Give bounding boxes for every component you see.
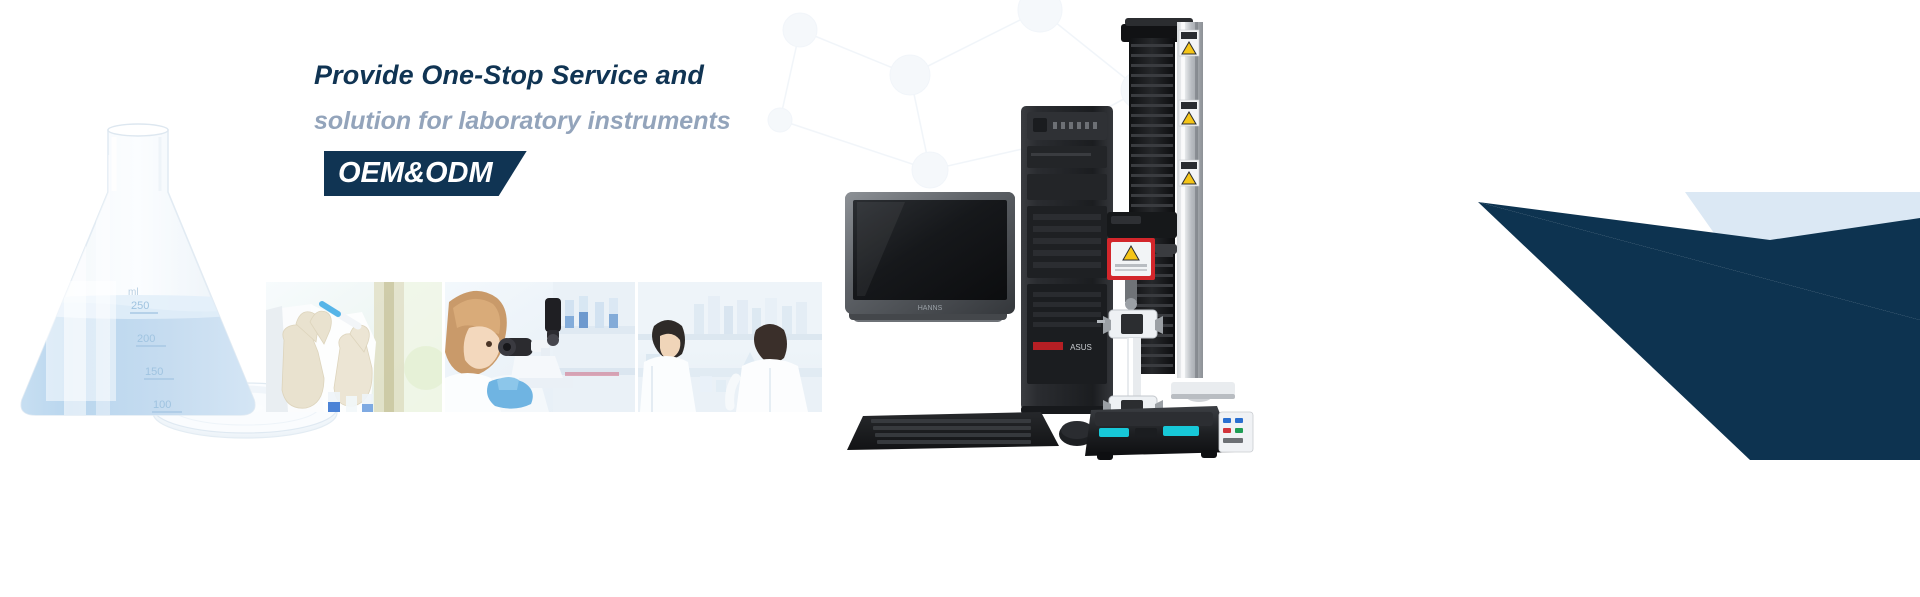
monitor: HANNS xyxy=(845,192,1015,322)
svg-text:150: 150 xyxy=(145,366,163,378)
dark-navy-lower-wedge xyxy=(1478,202,1920,460)
svg-text:100: 100 xyxy=(153,399,171,411)
photo-researchers-lab xyxy=(638,282,822,412)
oem-odm-badge: OEM&ODM xyxy=(324,151,527,196)
svg-text:250: 250 xyxy=(131,300,149,312)
svg-text:HANNS: HANNS xyxy=(918,305,943,312)
keyboard xyxy=(847,412,1095,450)
svg-text:ml: ml xyxy=(128,287,139,298)
photo-gloved-hands-pipetting xyxy=(266,282,442,412)
navy-arrow-graphic xyxy=(1450,120,1920,460)
photo-scientist-microscope xyxy=(445,282,635,412)
svg-text:200: 200 xyxy=(137,333,155,345)
lab-photo-strip xyxy=(266,282,822,412)
dark-navy-wedge xyxy=(1478,202,1920,320)
light-blue-wedge xyxy=(1685,192,1920,320)
machine-base xyxy=(1085,382,1253,460)
hero-banner: ml 250 200 150 100 Provide One-Stop Serv… xyxy=(0,0,1920,597)
warning-labels xyxy=(1179,30,1199,186)
erlenmeyer-flask: ml 250 200 150 100 xyxy=(0,124,280,435)
universal-material-testing-machine xyxy=(1085,8,1325,468)
